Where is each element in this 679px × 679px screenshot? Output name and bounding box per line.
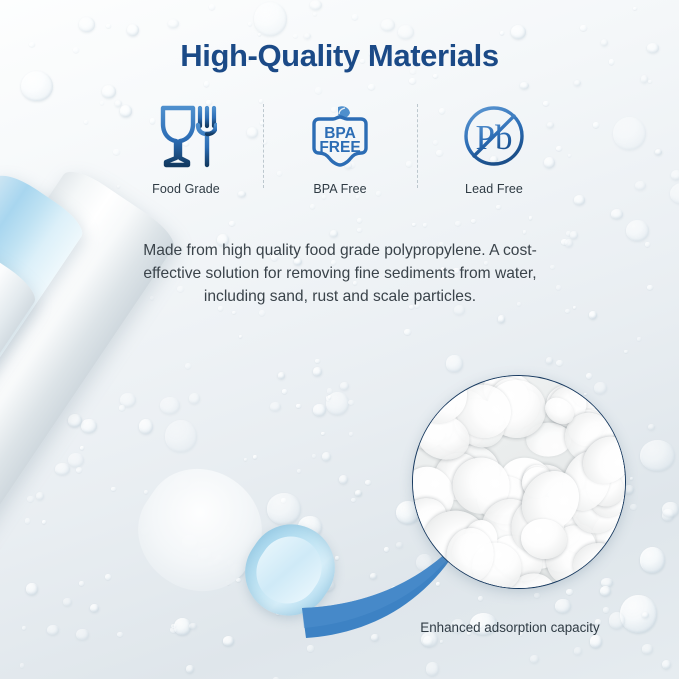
pellet-inset-caption: Enhanced adsorption capacity	[370, 620, 650, 635]
badge-divider-2	[417, 104, 418, 188]
product-description: Made from high quality food grade polypr…	[125, 239, 555, 308]
product-feature-poster: High-Quality Materials	[0, 0, 679, 679]
badge-divider-1	[263, 104, 264, 188]
bpa-free-badge-icon: BPA FREE	[309, 100, 371, 172]
badge-bpa-free: BPA FREE BPA Free	[272, 100, 408, 196]
badge-label-food-grade: Food Grade	[152, 182, 220, 196]
bpa-free-line2: FREE	[319, 139, 360, 156]
badge-label-bpa-free: BPA Free	[313, 182, 366, 196]
page-title: High-Quality Materials	[0, 38, 679, 74]
badge-food-grade: Food Grade	[118, 100, 254, 196]
no-lead-pb-icon: Pb	[462, 100, 526, 172]
badge-lead-free: Pb Lead Free	[426, 100, 562, 196]
certification-badges-row: Food Grade BPA FREE BPA Free	[118, 100, 562, 196]
pellet-closeup-inset	[412, 375, 626, 589]
glass-and-fork-icon	[155, 100, 217, 172]
badge-label-lead-free: Lead Free	[465, 182, 523, 196]
